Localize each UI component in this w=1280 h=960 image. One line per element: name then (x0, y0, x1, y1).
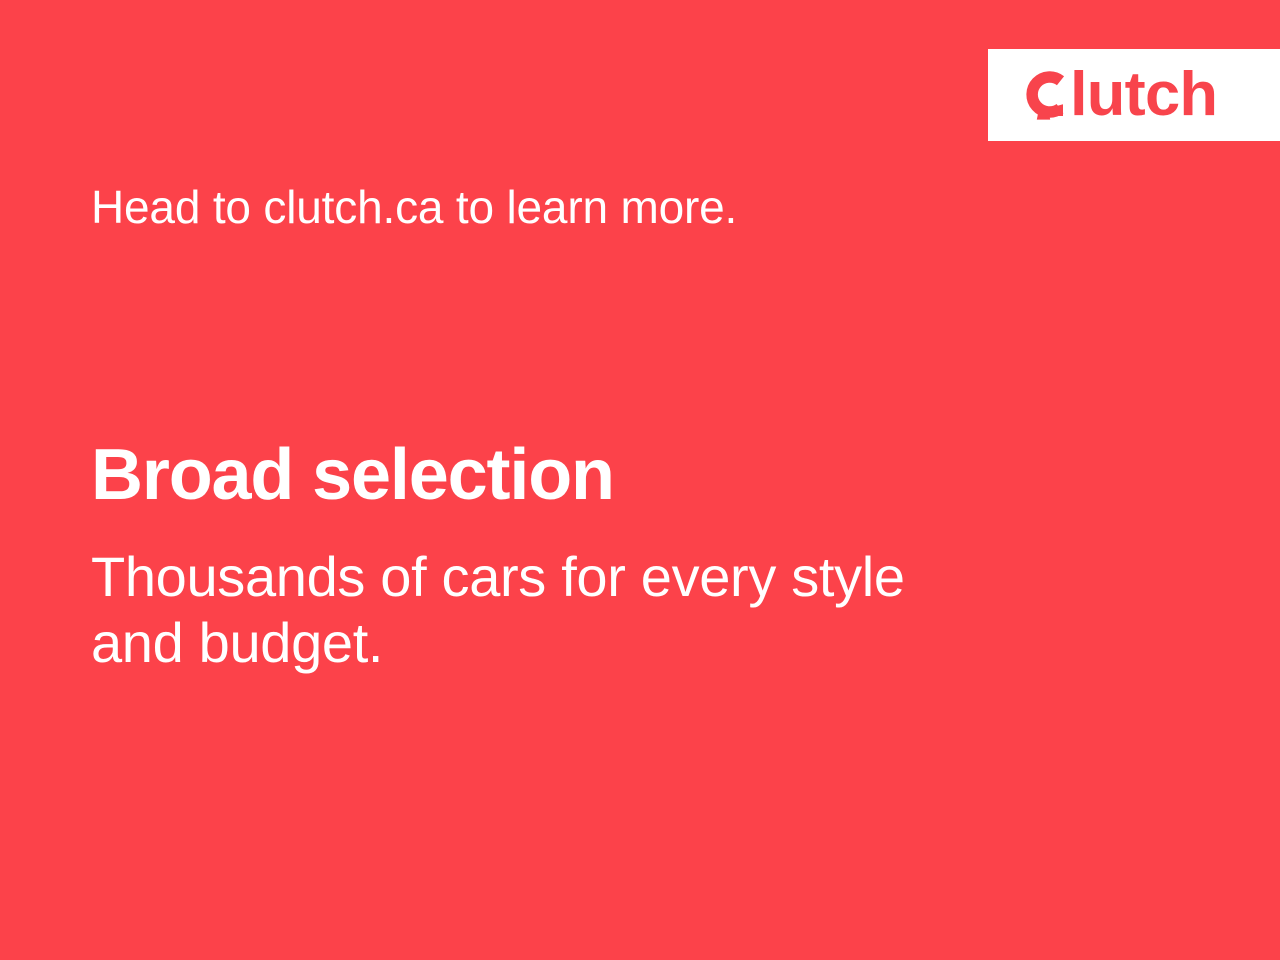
slide-subheadline: Thousands of cars for every style and bu… (91, 544, 1051, 676)
slide-headline: Broad selection (91, 437, 614, 515)
brand-logo-plate[interactable]: lutch (988, 49, 1280, 141)
clutch-wordmark: lutch (1070, 64, 1217, 126)
cta-eyebrow-text: Head to clutch.ca to learn more. (91, 181, 737, 234)
slide-canvas: lutch Head to clutch.ca to learn more. B… (0, 0, 1280, 960)
clutch-logo-lockup[interactable]: lutch (1022, 67, 1214, 123)
clutch-c-mark-icon (1022, 68, 1068, 122)
subheadline-line-2: and budget. (91, 610, 1051, 676)
subheadline-line-1: Thousands of cars for every style (91, 544, 1051, 610)
